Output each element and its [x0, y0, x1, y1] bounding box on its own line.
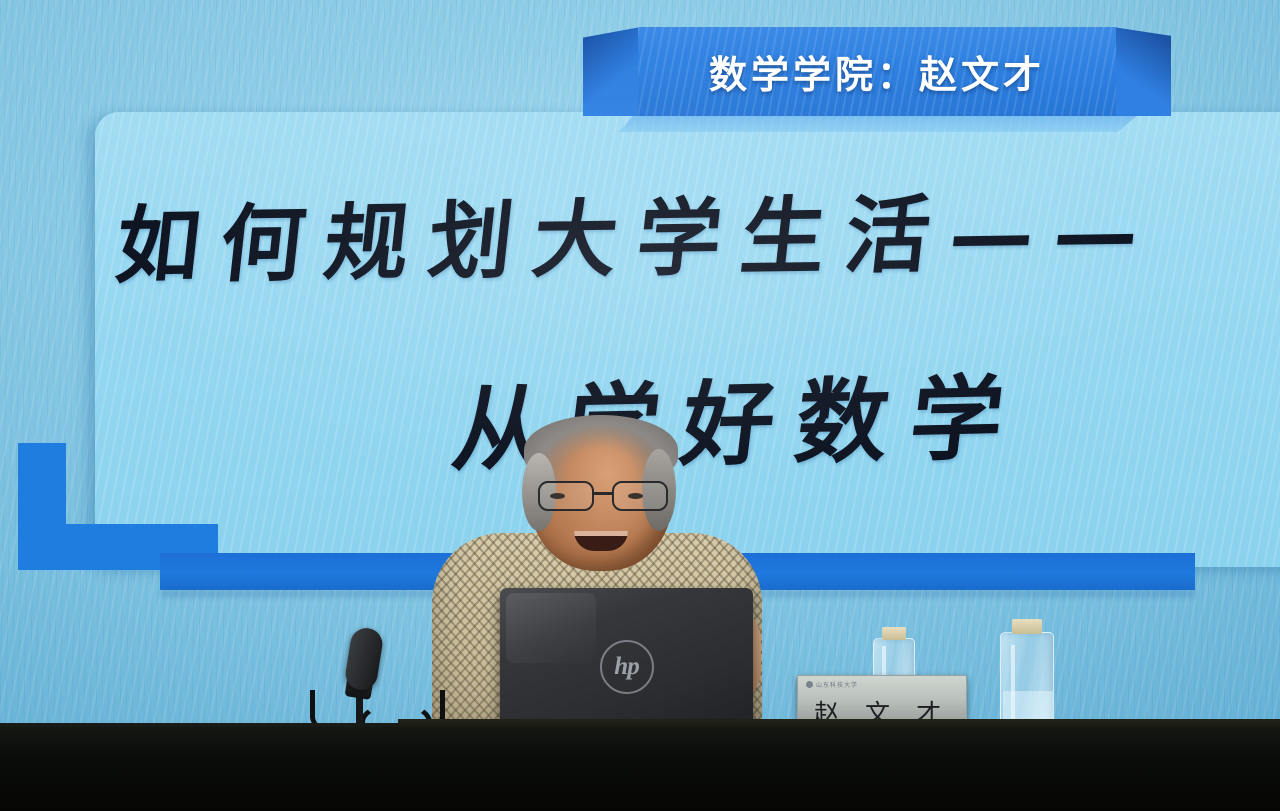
laptop-hp: hp [500, 588, 753, 740]
slide-title-line-1: 如何规划大学生活—— [111, 165, 1166, 301]
laptop-glare [506, 593, 596, 663]
nameplate-university: 山东科技大学 [806, 680, 858, 689]
ribbon-text: 数学学院：赵文才 [583, 27, 1171, 116]
lecture-scene: 如何规划大学生活—— 从学好数学 数学学院：赵文才 [0, 0, 1280, 811]
bottle-cap [882, 627, 906, 640]
hp-logo-icon: hp [600, 640, 654, 694]
university-logo-icon [806, 681, 813, 688]
microphone-head [343, 626, 384, 692]
nameplate-university-text: 山东科技大学 [816, 680, 858, 689]
podium-front [0, 727, 1280, 811]
bottle-cap [1012, 619, 1042, 634]
eyeglasses-icon [536, 481, 672, 513]
ribbon-tail [619, 114, 1139, 132]
slide-corner-accent [18, 443, 218, 570]
slide-ribbon-banner: 数学学院：赵文才 [583, 27, 1171, 116]
